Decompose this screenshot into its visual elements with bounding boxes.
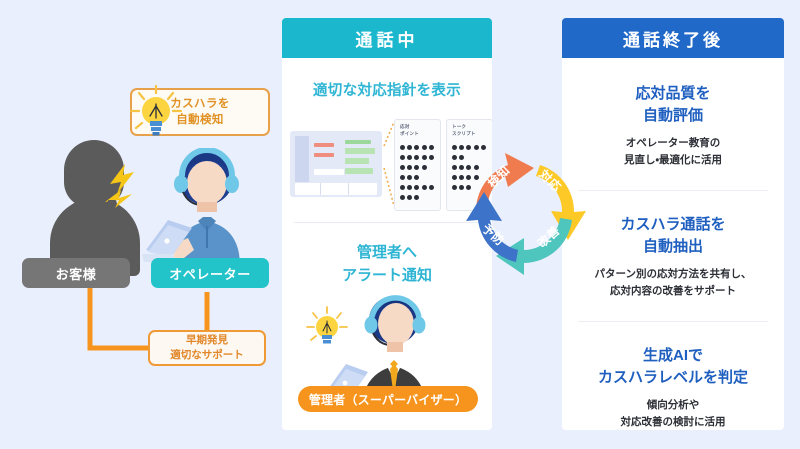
card-dot-row: [400, 185, 434, 190]
operator-illustration: [140, 148, 270, 266]
card-dot-row: [400, 145, 434, 150]
subtext-line1: パターン別の応対方法を共有し、: [595, 268, 752, 280]
heading-line1: 生成AIで: [643, 347, 703, 364]
guidance-card-response-points: 応対 ポイント: [394, 119, 441, 211]
panel-alert-title-line2: アラート通知: [342, 267, 432, 284]
customer-label: お客様: [56, 264, 97, 283]
panel-during-call: 通話中 適切な対応指針を表示 応対 ポイント: [282, 18, 492, 430]
feedback-callout: 早期発見 適切なサポート: [148, 330, 266, 366]
after-call-block-extraction: カスハラ通話を 自動抽出 パターン別の応対方法を共有し、 応対内容の改善をサポー…: [562, 214, 784, 300]
card-dot-row: [400, 165, 427, 170]
panel-alert-title-line1: 管理者へ: [357, 244, 417, 261]
after-call-block-heading: カスハラ通話を 自動抽出: [572, 214, 774, 258]
lightbulb-icon: [128, 84, 184, 144]
heading-line2: 自動評価: [643, 107, 703, 124]
after-call-block-subtext: パターン別の応対方法を共有し、 応対内容の改善をサポート: [572, 266, 774, 300]
infographic-stage: カスハラを 自動検知: [0, 0, 800, 449]
panel-divider: [294, 222, 480, 223]
left-scene: カスハラを 自動検知: [0, 0, 278, 449]
cycle-arrows: [462, 142, 588, 278]
card-title-line1: 応対: [400, 124, 409, 129]
card-dot-row: [400, 155, 434, 160]
after-call-block-ai-level: 生成AIで カスハラレベルを判定 傾向分析や 対応改善の検討に活用: [562, 345, 784, 430]
card-title-line2: ポイント: [400, 131, 419, 136]
heading-line1: カスハラ通話を: [620, 216, 725, 233]
after-call-block-heading: 生成AIで カスハラレベルを判定: [572, 345, 774, 389]
after-call-block-quality: 応対品質を 自動評価 オペレーター教育の 見直し・最適化に活用: [562, 83, 784, 169]
panel-divider: [578, 190, 768, 191]
pdca-cycle-diagram: 検知 対応 改善 予防: [462, 142, 588, 278]
subtext-line1: 傾向分析や: [647, 399, 700, 411]
operator-label: オペレーター: [169, 264, 251, 283]
card-dot-row: [400, 175, 419, 180]
subtext-line2: 対応改善の検討に活用: [621, 416, 726, 428]
customer-label-chip: お客様: [22, 258, 130, 288]
subtext-line2: 応対内容の改善をサポート: [610, 285, 736, 297]
feedback-callout-line2: 適切なサポート: [170, 349, 244, 361]
after-call-block-heading: 応対品質を 自動評価: [572, 83, 774, 127]
card-title-line1: トーク: [452, 124, 466, 129]
card-title-line2: スクリプト: [452, 131, 475, 136]
panel-after-call-header-label: 通話終了後: [623, 26, 723, 51]
heading-line2: 自動抽出: [643, 238, 703, 255]
after-call-block-subtext: 傾向分析や 対応改善の検討に活用: [572, 397, 774, 430]
subtext-line1: オペレーター教育の: [626, 137, 721, 149]
feedback-callout-text: 早期発見 適切なサポート: [170, 333, 244, 362]
supervisor-label: 管理者（スーパーバイザー）: [309, 391, 467, 408]
heading-line1: 応対品質を: [635, 85, 710, 102]
after-call-block-subtext: オペレーター教育の 見直し・最適化に活用: [572, 135, 774, 169]
card-dot-row: [400, 195, 419, 200]
panel-after-call-header: 通話終了後: [562, 18, 784, 58]
feedback-callout-line1: 早期発見: [186, 334, 228, 346]
panel-alert-title: 管理者へ アラート通知: [282, 242, 492, 287]
supervisor-label-chip: 管理者（スーパーバイザー）: [298, 386, 478, 412]
guidance-card-title: 応対 ポイント: [400, 124, 419, 138]
panel-divider: [578, 321, 768, 322]
heading-line2: カスハラレベルを判定: [598, 369, 748, 386]
operator-label-chip: オペレーター: [151, 258, 269, 288]
panel-after-call: 通話終了後 応対品質を 自動評価 オペレーター教育の 見直し・最適化に活用 カス…: [562, 18, 784, 430]
guidance-card-title: トーク スクリプト: [452, 124, 475, 138]
subtext-line2: 見直し・最適化に活用: [624, 154, 722, 166]
phone-handset-icon: [98, 200, 128, 234]
